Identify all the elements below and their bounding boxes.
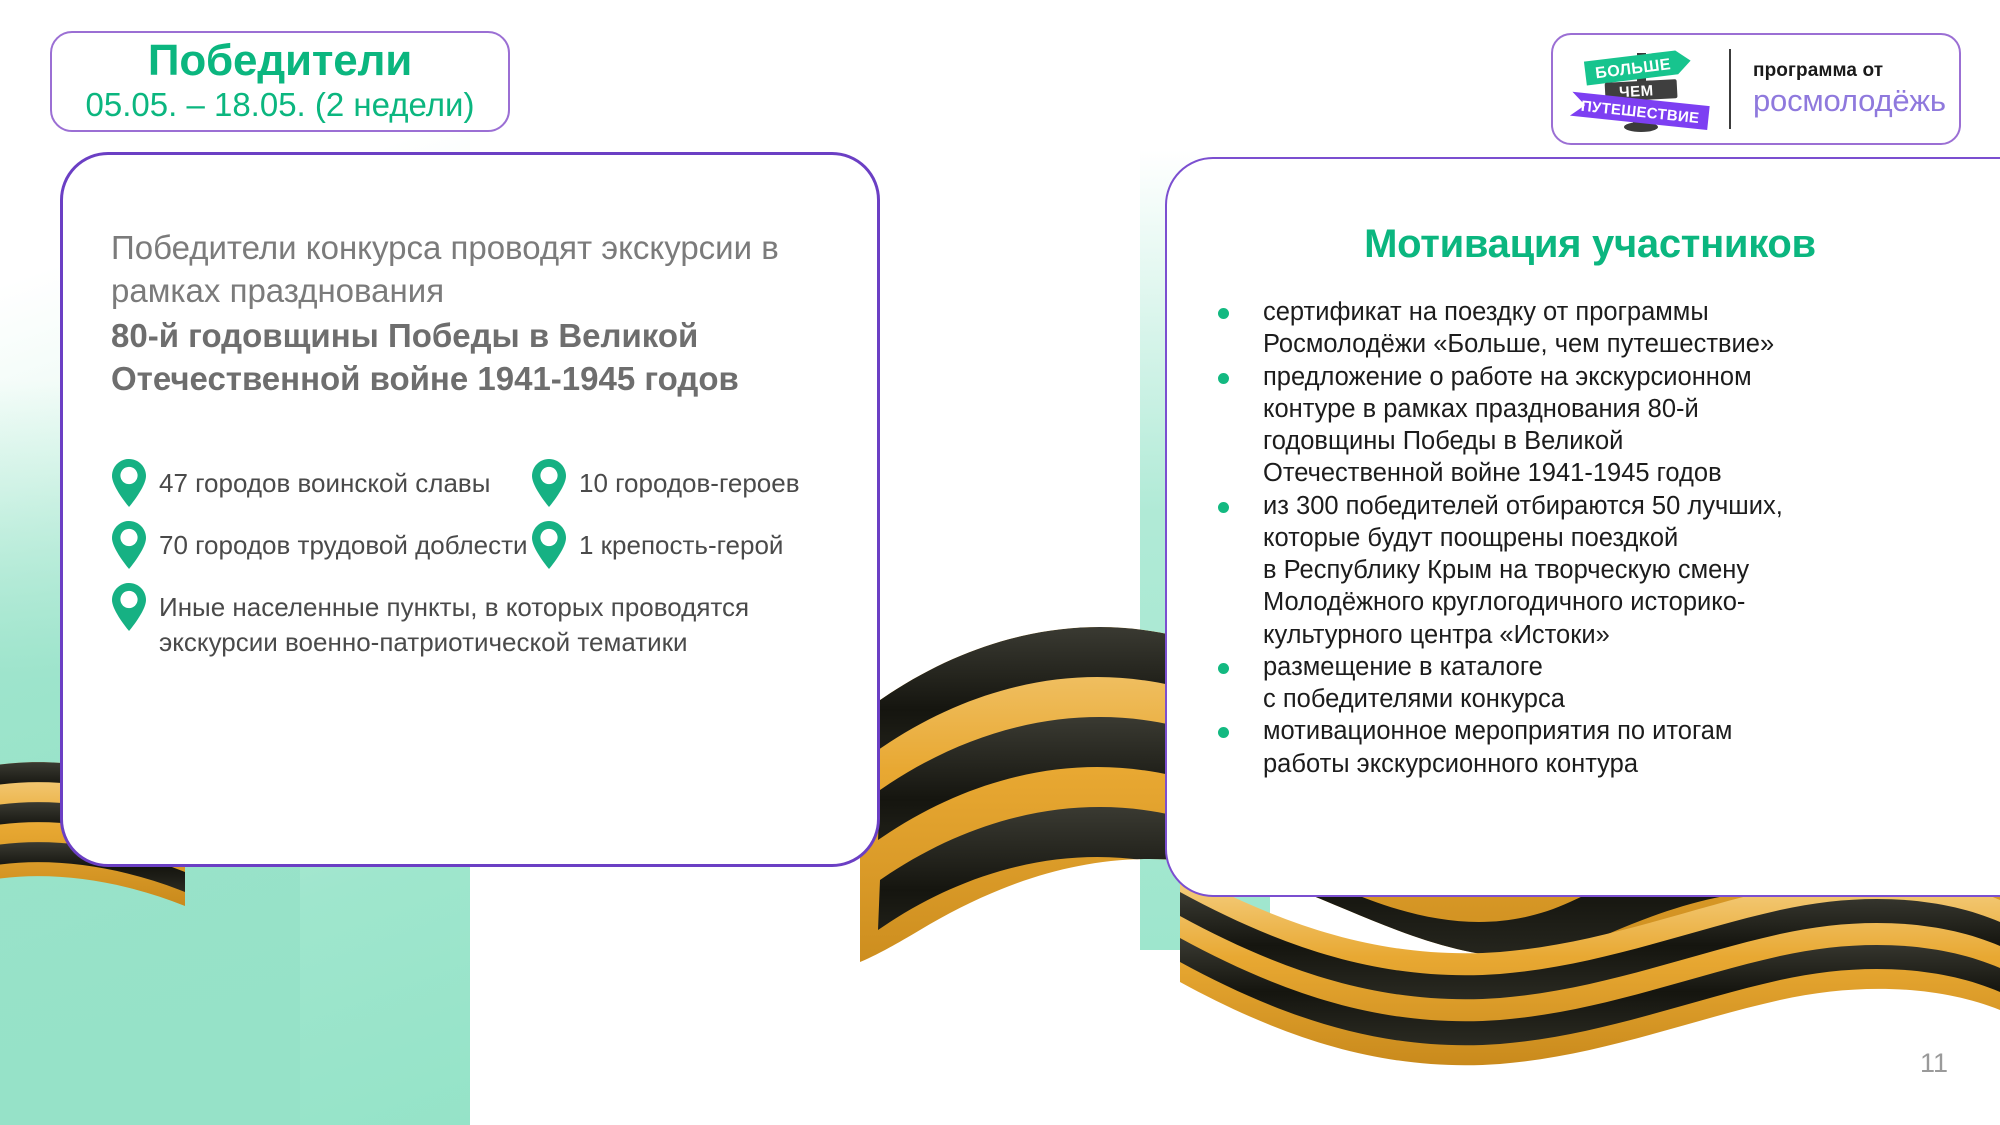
logo-text-block: программа от росмолодёжь bbox=[1753, 60, 1959, 119]
list-item: 1 крепость-герой bbox=[531, 522, 871, 570]
logo-program-label: программа от bbox=[1753, 60, 1959, 82]
list-item-label: 70 городов трудовой доблести bbox=[159, 522, 528, 563]
list-item: Иные населенные пункты, в которых провод… bbox=[111, 584, 871, 659]
left-card-lead-text: Победители конкурса проводят экскурсии в… bbox=[111, 227, 841, 401]
list-item-label: Иные населенные пункты, в которых провод… bbox=[159, 584, 749, 659]
list-item: 70 городов трудовой доблести bbox=[111, 522, 531, 570]
list-item-label: 47 городов воинской славы bbox=[159, 460, 490, 501]
slide: Победители 05.05. – 18.05. (2 недели) По… bbox=[0, 0, 2000, 1125]
list-item: 10 городов-героев bbox=[531, 460, 871, 508]
map-pin-icon bbox=[531, 458, 567, 508]
list-item: мотивационное мероприятия по итогам рабо… bbox=[1210, 715, 1910, 780]
slide-title-card: Победители 05.05. – 18.05. (2 недели) bbox=[50, 31, 510, 132]
page-number: 11 bbox=[1920, 1048, 1948, 1079]
motivation-list: сертификат на поездку от программы Росмо… bbox=[1210, 296, 1910, 780]
ribbon-right-fold bbox=[1180, 870, 2000, 1065]
motivation-title: Мотивация участников bbox=[1230, 222, 1950, 267]
signpost-logo-icon: БОЛЬШЕ ЧЕМ ПУТЕШЕСТВИЕ bbox=[1569, 43, 1719, 135]
list-item-label: 1 крепость-герой bbox=[579, 522, 783, 563]
logo-brand-name: росмолодёжь bbox=[1753, 83, 1959, 119]
list-item: из 300 победителей отбираются 50 лучших,… bbox=[1210, 490, 1910, 651]
list-item: 47 городов воинской славы bbox=[111, 460, 531, 508]
page-title: Победители bbox=[148, 38, 412, 84]
logo-divider bbox=[1729, 49, 1731, 129]
map-pin-icon bbox=[531, 520, 567, 570]
map-pin-icon bbox=[111, 582, 147, 632]
map-pin-icon bbox=[111, 520, 147, 570]
list-item-label: 10 городов-героев bbox=[579, 460, 800, 501]
lead-text-bold: 80-й годовщины Победы в Великой Отечеств… bbox=[111, 315, 841, 401]
lead-text-light: Победители конкурса проводят экскурсии в… bbox=[111, 227, 841, 313]
left-content-card: Победители конкурса проводят экскурсии в… bbox=[60, 152, 880, 867]
pin-row: Иные населенные пункты, в которых провод… bbox=[111, 584, 871, 659]
pin-row: 70 городов трудовой доблести 1 крепость-… bbox=[111, 522, 871, 570]
pin-row: 47 городов воинской славы 10 городов-гер… bbox=[111, 460, 871, 508]
list-item: сертификат на поездку от программы Росмо… bbox=[1210, 296, 1910, 361]
program-logo-card: БОЛЬШЕ ЧЕМ ПУТЕШЕСТВИЕ программа от росм… bbox=[1551, 33, 1961, 145]
map-pin-icon bbox=[111, 458, 147, 508]
page-subtitle-dates: 05.05. – 18.05. (2 недели) bbox=[86, 86, 475, 125]
list-item: размещение в каталоге с победителями кон… bbox=[1210, 651, 1910, 716]
pin-list: 47 городов воинской славы 10 городов-гер… bbox=[111, 460, 871, 673]
list-item: предложение о работе на экскурсионном ко… bbox=[1210, 361, 1910, 490]
